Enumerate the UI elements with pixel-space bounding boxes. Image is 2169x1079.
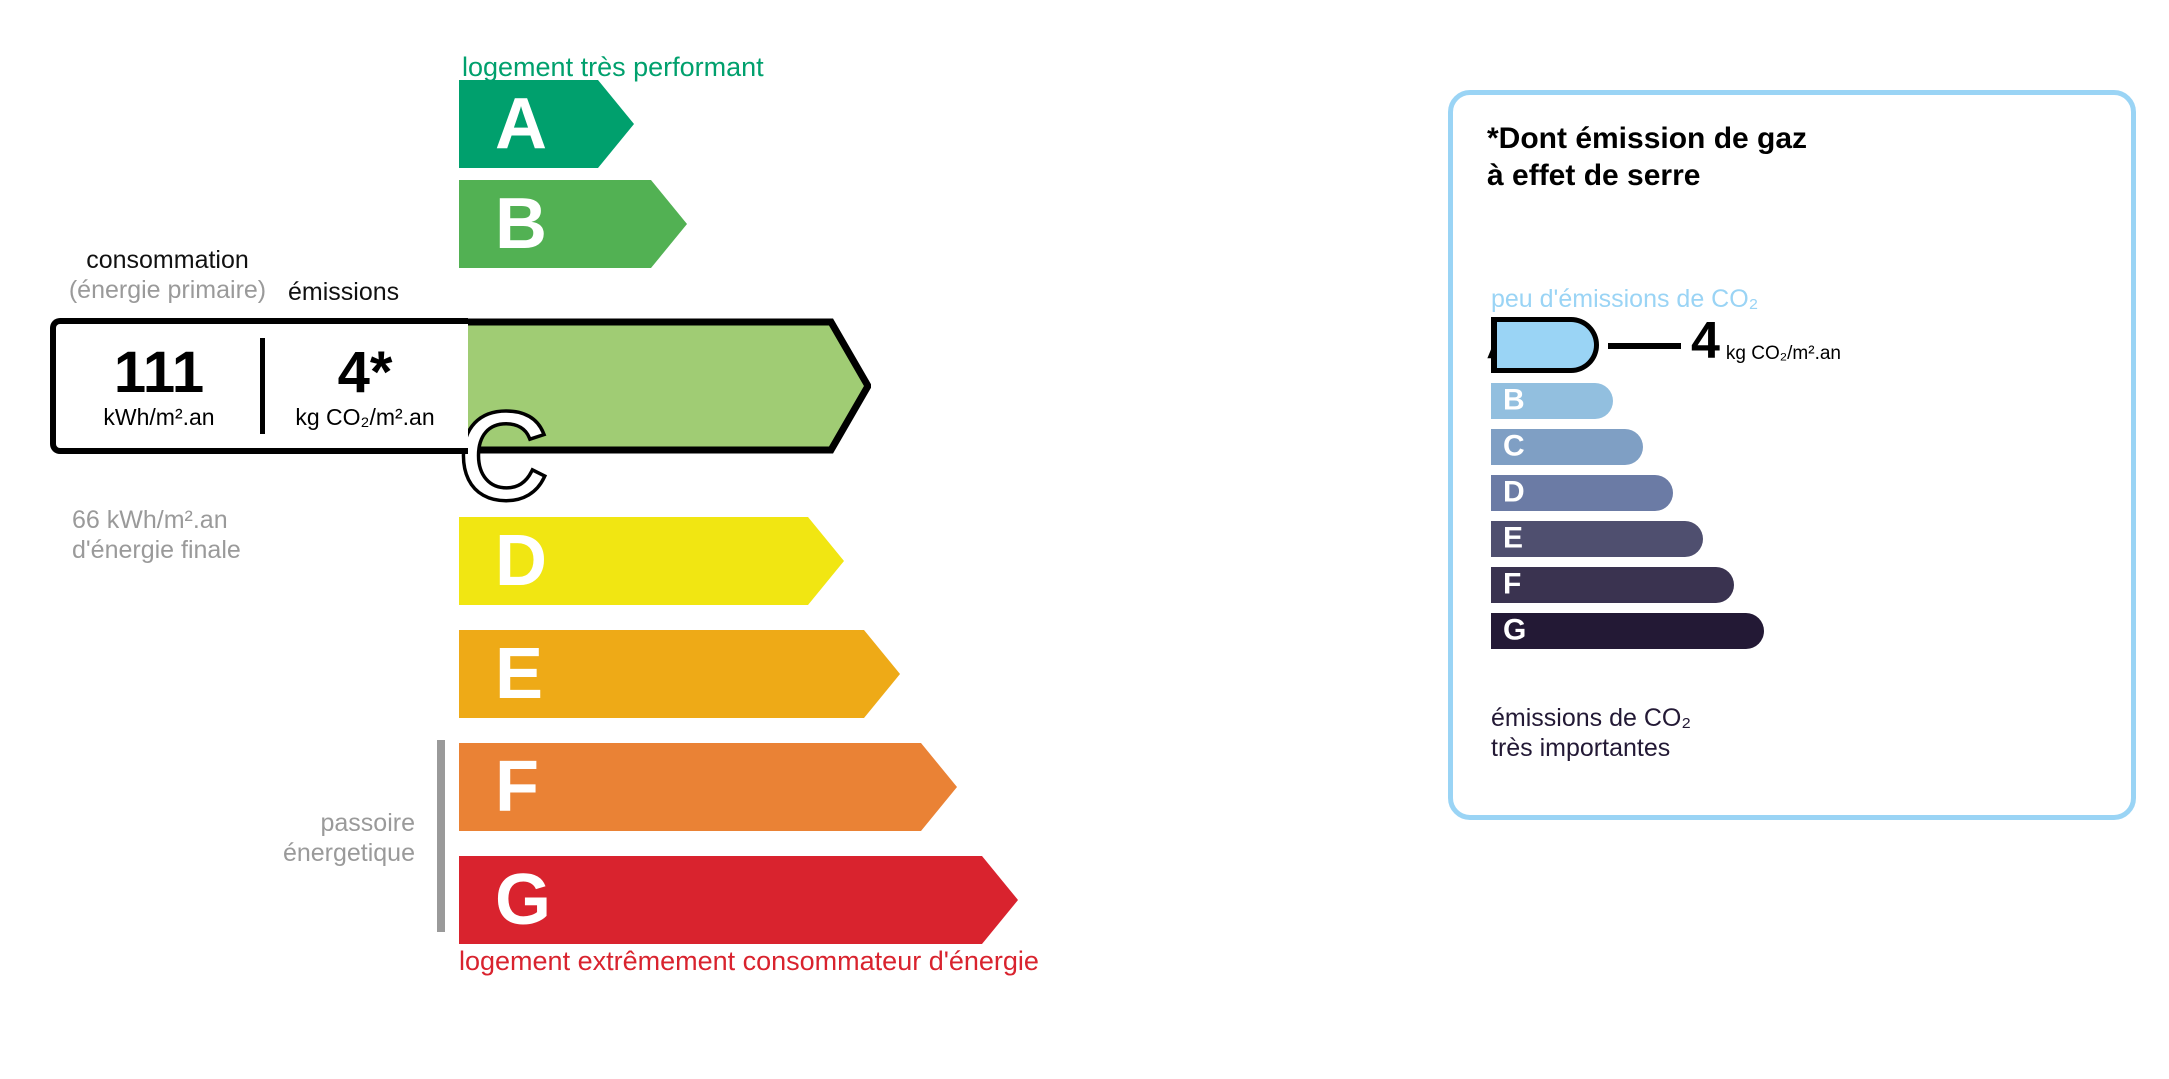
consommation-label-main: consommation xyxy=(60,246,275,276)
ges-bottom-caption-line2: très importantes xyxy=(1491,733,1691,763)
passoire-label: passoire énergetique xyxy=(230,808,415,868)
ges-bar-d: D xyxy=(1491,475,1673,511)
emission-unit: kg CO₂/m².an xyxy=(262,406,468,429)
passoire-line2: énergetique xyxy=(230,838,415,868)
ges-bar-letter: E xyxy=(1503,523,1523,553)
emissions-label: émissions xyxy=(288,278,399,307)
final-energy-line1: 66 kWh/m².an xyxy=(72,505,241,535)
energy-bar-a: A xyxy=(459,80,634,168)
ges-bar-g: G xyxy=(1491,613,1764,649)
ges-bar-letter: B xyxy=(1503,385,1525,415)
consumption-cell: 111 kWh/m².an xyxy=(56,344,262,429)
ges-bar-letter: G xyxy=(1503,615,1526,645)
energy-bar-letter: G xyxy=(495,864,550,936)
energy-performance-chart: logement très performant ABDEFG C 111 kW… xyxy=(0,0,1440,1079)
passoire-line1: passoire xyxy=(230,808,415,838)
energy-bar-g: G xyxy=(459,856,1018,944)
energy-bar-b: B xyxy=(459,180,687,268)
energy-arrow-shape xyxy=(459,180,687,268)
energy-bar-letter: A xyxy=(495,88,546,160)
ges-bar-letter: D xyxy=(1503,477,1525,507)
consommation-label: consommation (énergie primaire) xyxy=(60,246,275,305)
ges-value-number: 4 xyxy=(1691,315,1720,367)
final-energy-label: 66 kWh/m².an d'énergie finale xyxy=(72,505,241,565)
ges-bar-letter: F xyxy=(1503,569,1521,599)
ges-selected-badge-a: A xyxy=(1491,317,1599,373)
ges-top-caption: peu d'émissions de CO₂ xyxy=(1491,285,1758,314)
ges-selected-badge-shape xyxy=(1491,317,1599,373)
consumption-value: 111 xyxy=(56,344,262,402)
ges-connector-line xyxy=(1608,343,1681,349)
passoire-bracket-line xyxy=(437,740,445,932)
energy-bar-letter: F xyxy=(495,751,538,823)
energy-bar-letter: E xyxy=(495,638,542,710)
emission-cell: 4* kg CO₂/m².an xyxy=(262,344,468,429)
ges-bar-e: E xyxy=(1491,521,1703,557)
energy-selected-row-c: C xyxy=(459,318,871,454)
energy-top-caption: logement très performant xyxy=(462,52,764,83)
ges-bar-f: F xyxy=(1491,567,1734,603)
ges-title-line2: à effet de serre xyxy=(1487,158,1807,195)
energy-bottom-caption: logement extrêmement consommateur d'éner… xyxy=(459,946,1039,977)
energy-arrow-shape xyxy=(459,80,634,168)
ges-value-unit: kg CO₂/m².an xyxy=(1726,344,1841,367)
energy-bar-letter: D xyxy=(495,525,546,597)
ges-panel: *Dont émission de gaz à effet de serre p… xyxy=(1448,90,2136,820)
ges-title: *Dont émission de gaz à effet de serre xyxy=(1487,121,1807,194)
ges-bar-b: B xyxy=(1491,383,1613,419)
ges-title-line1: *Dont émission de gaz xyxy=(1487,121,1807,158)
ges-bottom-caption: émissions de CO₂ très importantes xyxy=(1491,703,1691,763)
ges-bottom-caption-line1: émissions de CO₂ xyxy=(1491,703,1691,733)
energy-value-box: 111 kWh/m².an 4* kg CO₂/m².an xyxy=(50,318,468,454)
final-energy-line2: d'énergie finale xyxy=(72,535,241,565)
emission-value: 4* xyxy=(262,344,468,402)
energy-selected-letter: C xyxy=(459,386,871,526)
ges-bar-c: C xyxy=(1491,429,1643,465)
ges-bar-letter: C xyxy=(1503,431,1525,461)
ges-value-group: 4 kg CO₂/m².an xyxy=(1691,315,1841,367)
consommation-label-sub: (énergie primaire) xyxy=(60,276,275,306)
energy-bar-letter: B xyxy=(495,188,546,260)
energy-bar-f: F xyxy=(459,743,957,831)
energy-bar-e: E xyxy=(459,630,900,718)
consumption-unit: kWh/m².an xyxy=(56,406,262,429)
energy-bar-d: D xyxy=(459,517,844,605)
